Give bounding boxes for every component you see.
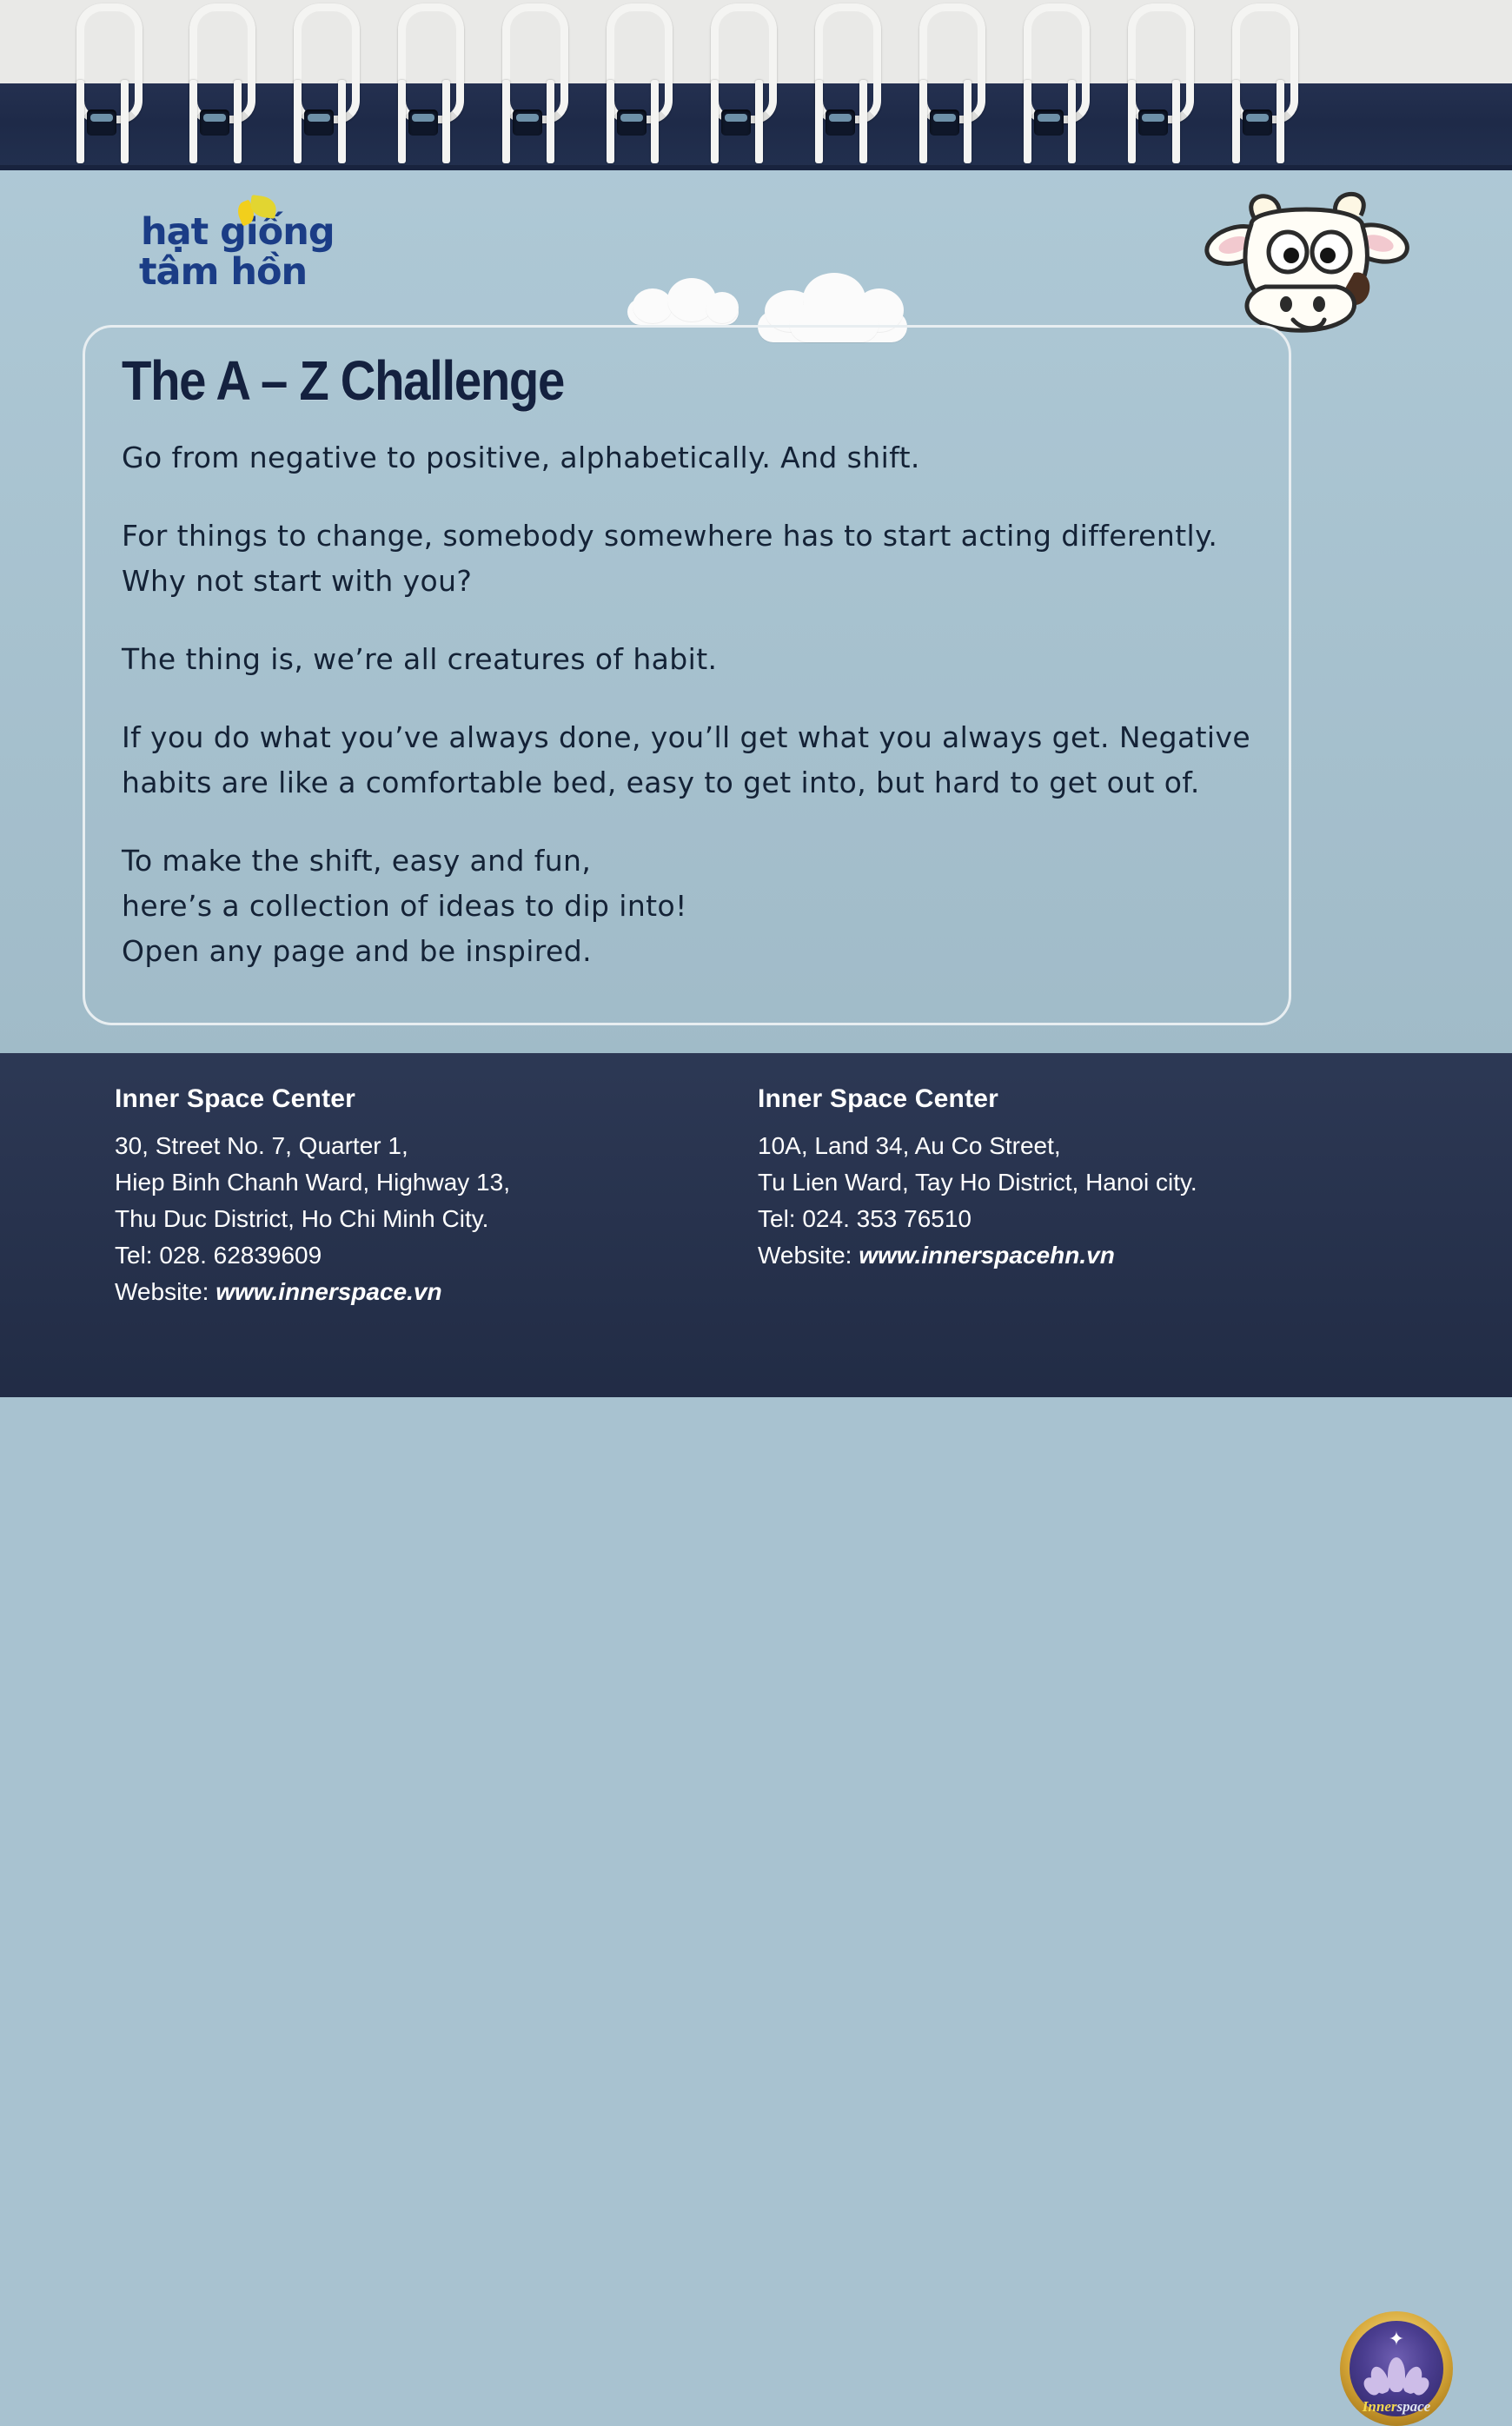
center-name: Inner Space Center [115,1084,510,1114]
seal-wordmark: Innerspace [1340,2398,1453,2416]
seal-word-1: Inner [1363,2398,1397,2415]
website-url[interactable]: www.innerspace.vn [216,1278,441,1305]
quote-body: Go from negative to positive, alphabetic… [122,435,1259,974]
cloud-small-icon [622,276,744,328]
spiral-coil [1227,0,1291,165]
spiral-coil [288,0,353,165]
calendar-page: hạt giống tâm hồn [0,0,1512,1397]
spiral-coil [810,0,874,165]
brand-logo-line-2: tâm hồn [139,252,348,292]
spiral-coil [1123,0,1187,165]
footer-column-hcmc: Inner Space Center 30, Street No. 7, Qua… [115,1084,510,1310]
spiral-coil [706,0,770,165]
address-line: Tu Lien Ward, Tay Ho District, Hanoi cit… [758,1164,1197,1201]
quote-panel: The A – Z Challenge Go from negative to … [83,325,1291,1025]
address-line: Thu Duc District, Ho Chi Minh City. [115,1201,510,1237]
website-row: Website: www.innerspace.vn [115,1274,510,1310]
website-row: Website: www.innerspacehn.vn [758,1237,1197,1274]
paragraph: To make the shift, easy and fun, here’s … [122,838,1259,974]
star-icon: ✦ [1389,2330,1404,2350]
footer: Inner Space Center 30, Street No. 7, Qua… [0,1053,1512,1397]
spiral-binding [0,0,1512,170]
spiral-coil [914,0,978,165]
website-url[interactable]: www.innerspacehn.vn [859,1242,1115,1269]
spiral-coil [393,0,457,165]
website-label: Website: [758,1242,852,1269]
address-line: 10A, Land 34, Au Co Street, [758,1128,1197,1164]
lotus-icon [1365,2356,1428,2396]
inner-space-logo-icon: ✦ Innerspace [1340,2311,1453,2426]
sprout-icon [236,196,278,228]
address-line: 30, Street No. 7, Quarter 1, [115,1128,510,1164]
page-title: The A – Z Challenge [122,352,1123,409]
telephone: Tel: 028. 62839609 [115,1237,510,1274]
center-name: Inner Space Center [758,1084,1197,1114]
paragraph: For things to change, somebody somewhere… [122,514,1259,604]
spiral-coil [1018,0,1083,165]
spiral-coil [601,0,666,165]
address-line: Hiep Binh Chanh Ward, Highway 13, [115,1164,510,1201]
paragraph: If you do what you’ve always done, you’l… [122,715,1259,805]
paragraph: Go from negative to positive, alphabetic… [122,435,1259,481]
footer-column-hanoi: Inner Space Center 10A, Land 34, Au Co S… [758,1084,1197,1274]
website-label: Website: [115,1278,209,1305]
brand-logo: hạt giống tâm hồn [139,212,348,308]
seal-word-2: space [1396,2398,1430,2415]
paragraph: The thing is, we’re all creatures of hab… [122,637,1259,682]
telephone: Tel: 024. 353 76510 [758,1201,1197,1237]
spiral-coil [497,0,561,165]
spiral-coil [184,0,249,165]
spiral-coil [71,0,136,165]
